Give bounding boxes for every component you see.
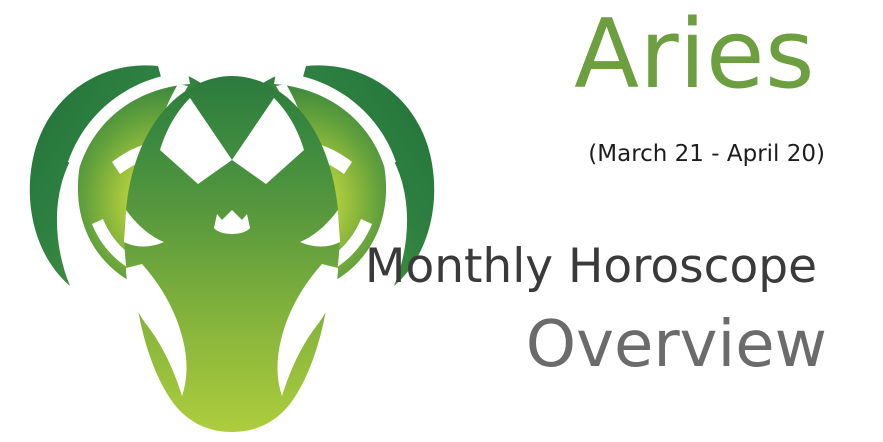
page-title: Aries — [574, 8, 815, 103]
text-block: Aries (March 21 - April 20) Monthly Horo… — [360, 0, 860, 442]
sign-date-range: (March 21 - April 20) — [588, 143, 825, 166]
headline: Monthly Horoscope — [365, 243, 817, 290]
aries-horoscope-banner: Aries (March 21 - April 20) Monthly Horo… — [0, 0, 883, 442]
ram-face — [124, 76, 340, 432]
subheading: Overview — [526, 313, 827, 377]
